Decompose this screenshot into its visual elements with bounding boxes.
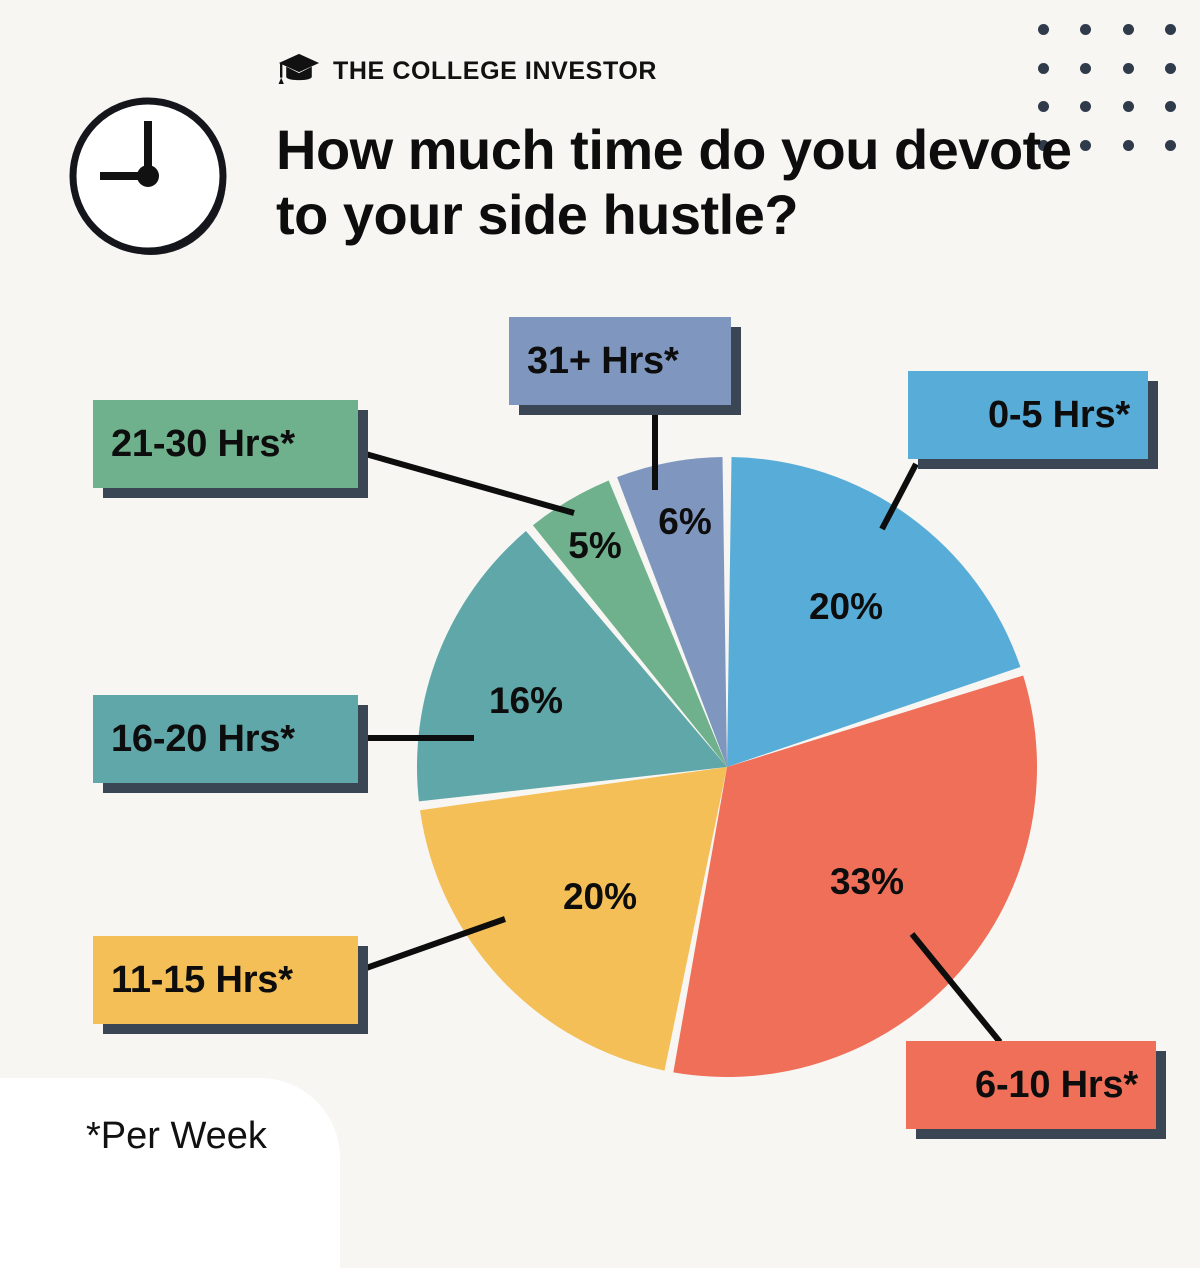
callout-6-10-hrs[interactable]: 6-10 Hrs* bbox=[906, 1041, 1156, 1129]
callout-16-20-hrs[interactable]: 16-20 Hrs* bbox=[93, 695, 358, 783]
footnote: *Per Week bbox=[86, 1115, 267, 1158]
callout-label: 21-30 Hrs* bbox=[111, 423, 295, 466]
pie-slice[interactable] bbox=[420, 767, 727, 1071]
callout-0-5-hrs[interactable]: 0-5 Hrs* bbox=[908, 371, 1148, 459]
slice-percent-label: 20% bbox=[809, 586, 883, 628]
infographic-canvas: THE COLLEGE INVESTOR How much time do yo… bbox=[0, 0, 1200, 1200]
slice-percent-label: 20% bbox=[563, 876, 637, 918]
slice-percent-label: 16% bbox=[489, 680, 563, 722]
slice-percent-label: 33% bbox=[830, 861, 904, 903]
callout-21-30-hrs[interactable]: 21-30 Hrs* bbox=[93, 400, 358, 488]
pie-slices bbox=[417, 457, 1037, 1077]
callout-31-hrs[interactable]: 31+ Hrs* bbox=[509, 317, 731, 405]
callout-label: 0-5 Hrs* bbox=[988, 394, 1130, 437]
callout-label: 11-15 Hrs* bbox=[111, 959, 293, 1002]
callout-11-15-hrs[interactable]: 11-15 Hrs* bbox=[93, 936, 358, 1024]
slice-percent-label: 5% bbox=[568, 525, 621, 567]
slice-percent-label: 6% bbox=[658, 501, 711, 543]
leader-line bbox=[355, 451, 574, 513]
callout-label: 6-10 Hrs* bbox=[975, 1064, 1138, 1107]
callout-label: 31+ Hrs* bbox=[527, 340, 679, 383]
callout-label: 16-20 Hrs* bbox=[111, 718, 295, 761]
